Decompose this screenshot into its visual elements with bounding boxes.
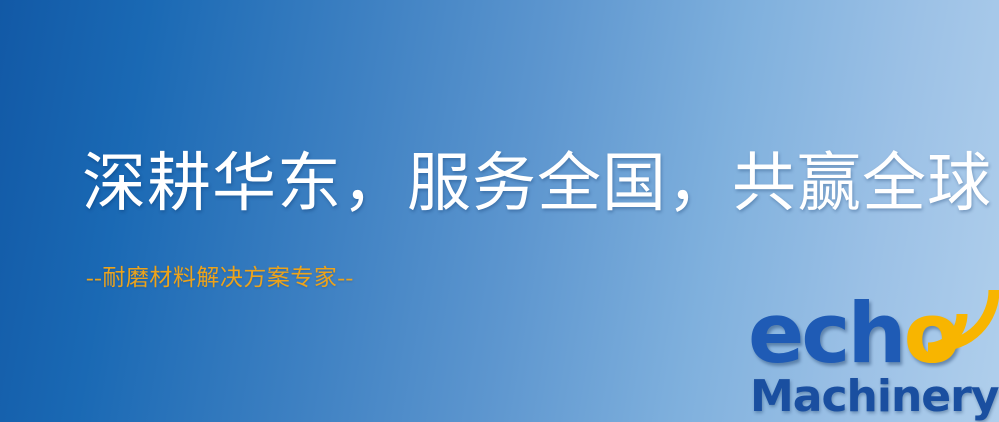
logo-machinery-text: Machinery: [750, 371, 999, 422]
banner-subtitle: --耐磨材料解决方案专家--: [86, 266, 354, 289]
logo-wordmark-machinery: Machinery®: [750, 366, 999, 422]
banner-headline: 深耕华东，服务全国，共赢全球: [82, 152, 992, 216]
company-logo[interactable]: echo Machinery®: [748, 296, 994, 418]
hero-banner: 深耕华东，服务全国，共赢全球 --耐磨材料解决方案专家-- echo Machi…: [0, 0, 999, 422]
echo-signal-waves-icon: [920, 292, 992, 354]
